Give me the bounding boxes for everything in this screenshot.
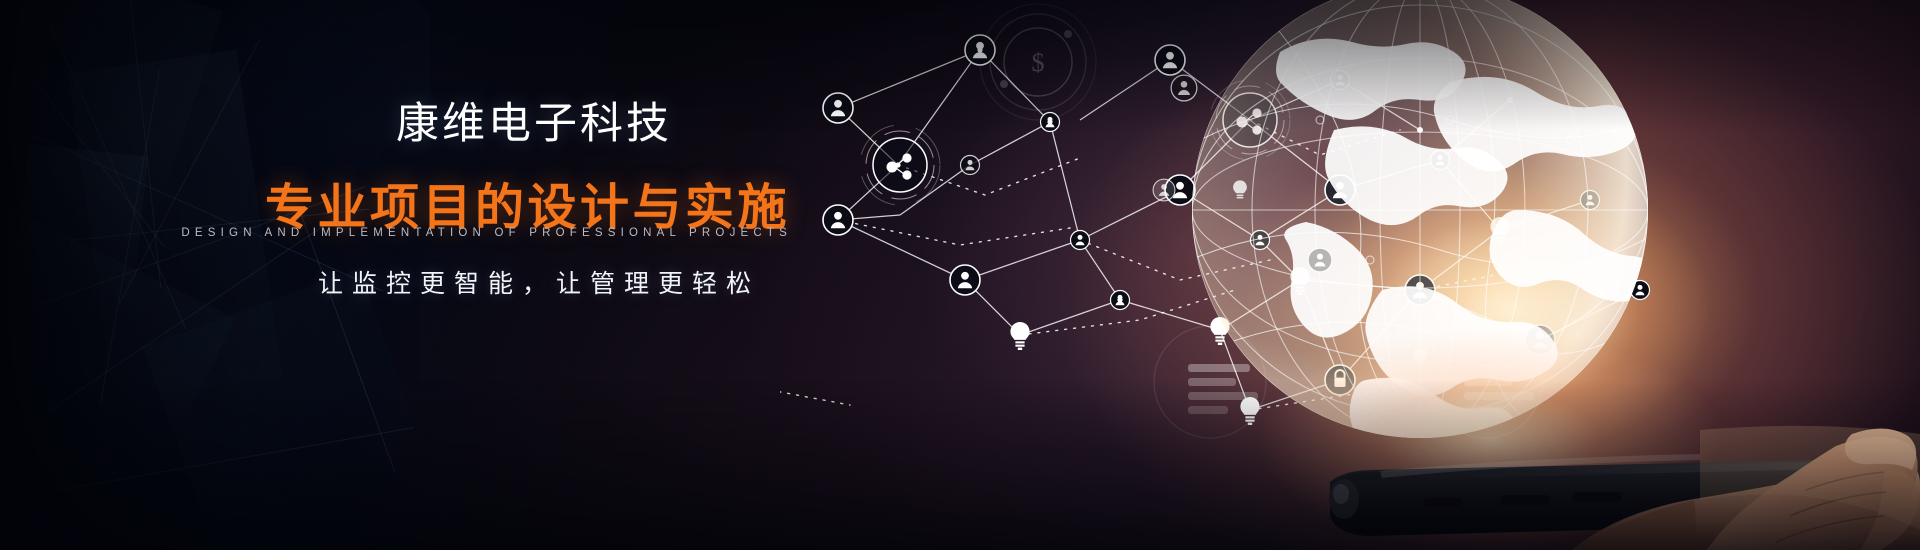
hero-banner: $	[0, 0, 1920, 550]
headline: 专业项目的设计与实施	[0, 184, 790, 233]
tagline: 让监控更智能，让管理更轻松	[0, 272, 760, 297]
banner-copy: 康维电子科技 专业项目的设计与实施 DESIGN AND IMPLEMENTAT…	[0, 0, 820, 550]
brand-name: 康维电子科技	[0, 103, 672, 146]
headline-english: DESIGN AND IMPLEMENTATION OF PROFESSIONA…	[0, 228, 792, 240]
